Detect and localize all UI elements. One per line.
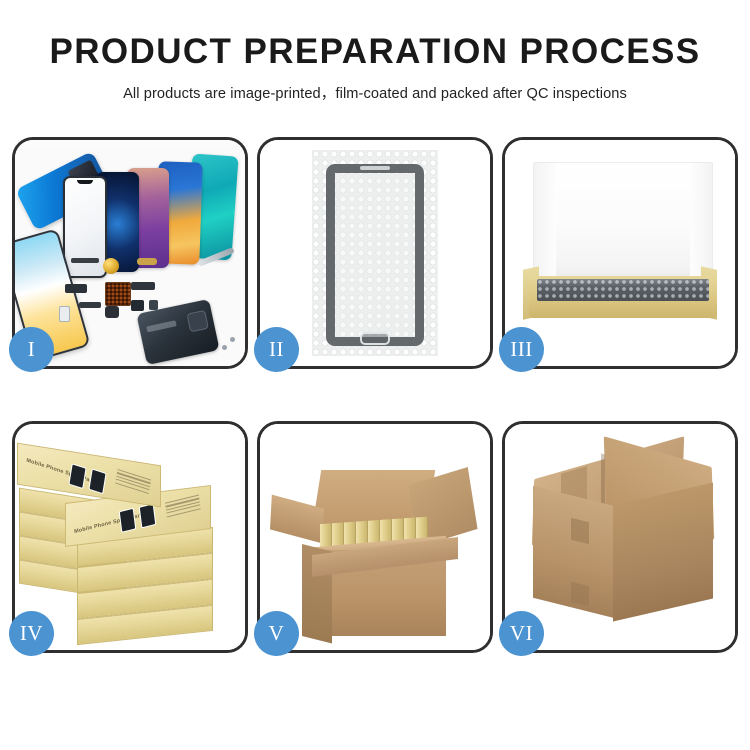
step-panel-2[interactable]: II [257,137,493,369]
lid-phone-icon [119,508,137,533]
step-badge-2: II [254,327,299,372]
step-badge-3: III [499,327,544,372]
lid-phone-icon [139,503,157,528]
chip-part-3 [105,306,119,318]
carton-tab-upper [571,518,589,544]
camera-module-icon [186,310,209,333]
wrapped-screen [326,164,424,346]
carton-tab-lower [571,582,589,606]
step-image-3 [505,140,735,366]
speaker-coil-part [103,258,119,274]
step-badge-4: IV [9,611,54,656]
carton-right-face [613,482,713,621]
home-button-icon [360,332,390,345]
step-image-1 [15,140,245,366]
notch-icon [77,180,93,184]
product-preparation-infographic: PRODUCT PREPARATION PROCESS All products… [0,0,750,750]
page-title: PRODUCT PREPARATION PROCESS [0,34,750,71]
step-image-5 [260,424,490,650]
step-badge-6: VI [499,611,544,656]
flex-cable-part-3 [131,282,155,290]
step-badge-5: V [254,611,299,656]
box-lid-label: Mobile Phone Spare Parts [26,458,97,486]
sim-tray-part [59,306,70,322]
screw-part-1 [222,345,227,350]
box-stack: Mobile Phone Spare Parts Mobile Phone Sp… [15,438,245,643]
flex-cable-part-4 [65,284,87,293]
flex-cable-part-1 [71,258,99,263]
step-panel-5[interactable]: V [257,421,493,653]
header: PRODUCT PREPARATION PROCESS All products… [0,0,750,103]
step-panel-3[interactable]: III [502,137,738,369]
step-panel-6[interactable]: VI [502,421,738,653]
step-badge-1: I [9,327,54,372]
step-panel-1[interactable]: I [12,137,248,369]
bubble-wrap-sheet [312,150,438,356]
lid-text-lines [115,469,151,496]
flex-cable-part-2 [137,258,157,265]
step-image-2 [260,140,490,366]
kraft-box-body [529,276,717,318]
screw-part-2 [230,337,235,342]
chip-part-2 [149,300,158,310]
step-panel-4[interactable]: Mobile Phone Spare Parts Mobile Phone Sp… [12,421,248,653]
wrapped-screen-in-box [537,279,709,301]
page-subtitle: All products are image-printed，film-coat… [0,82,750,103]
step-image-4: Mobile Phone Spare Parts Mobile Phone Sp… [15,424,245,650]
foam-padding [533,162,713,282]
steps-grid: I II [12,137,738,653]
step-image-6 [505,424,735,650]
housing-strip [146,320,177,332]
copper-mesh-part [105,282,131,306]
chip-part-1 [131,300,144,311]
flex-cable-part-5 [79,302,101,308]
lid-phone-icon [88,468,106,494]
earpiece-icon [360,166,390,170]
lid-text-lines [165,495,201,520]
lid-phone-icon [68,463,86,489]
